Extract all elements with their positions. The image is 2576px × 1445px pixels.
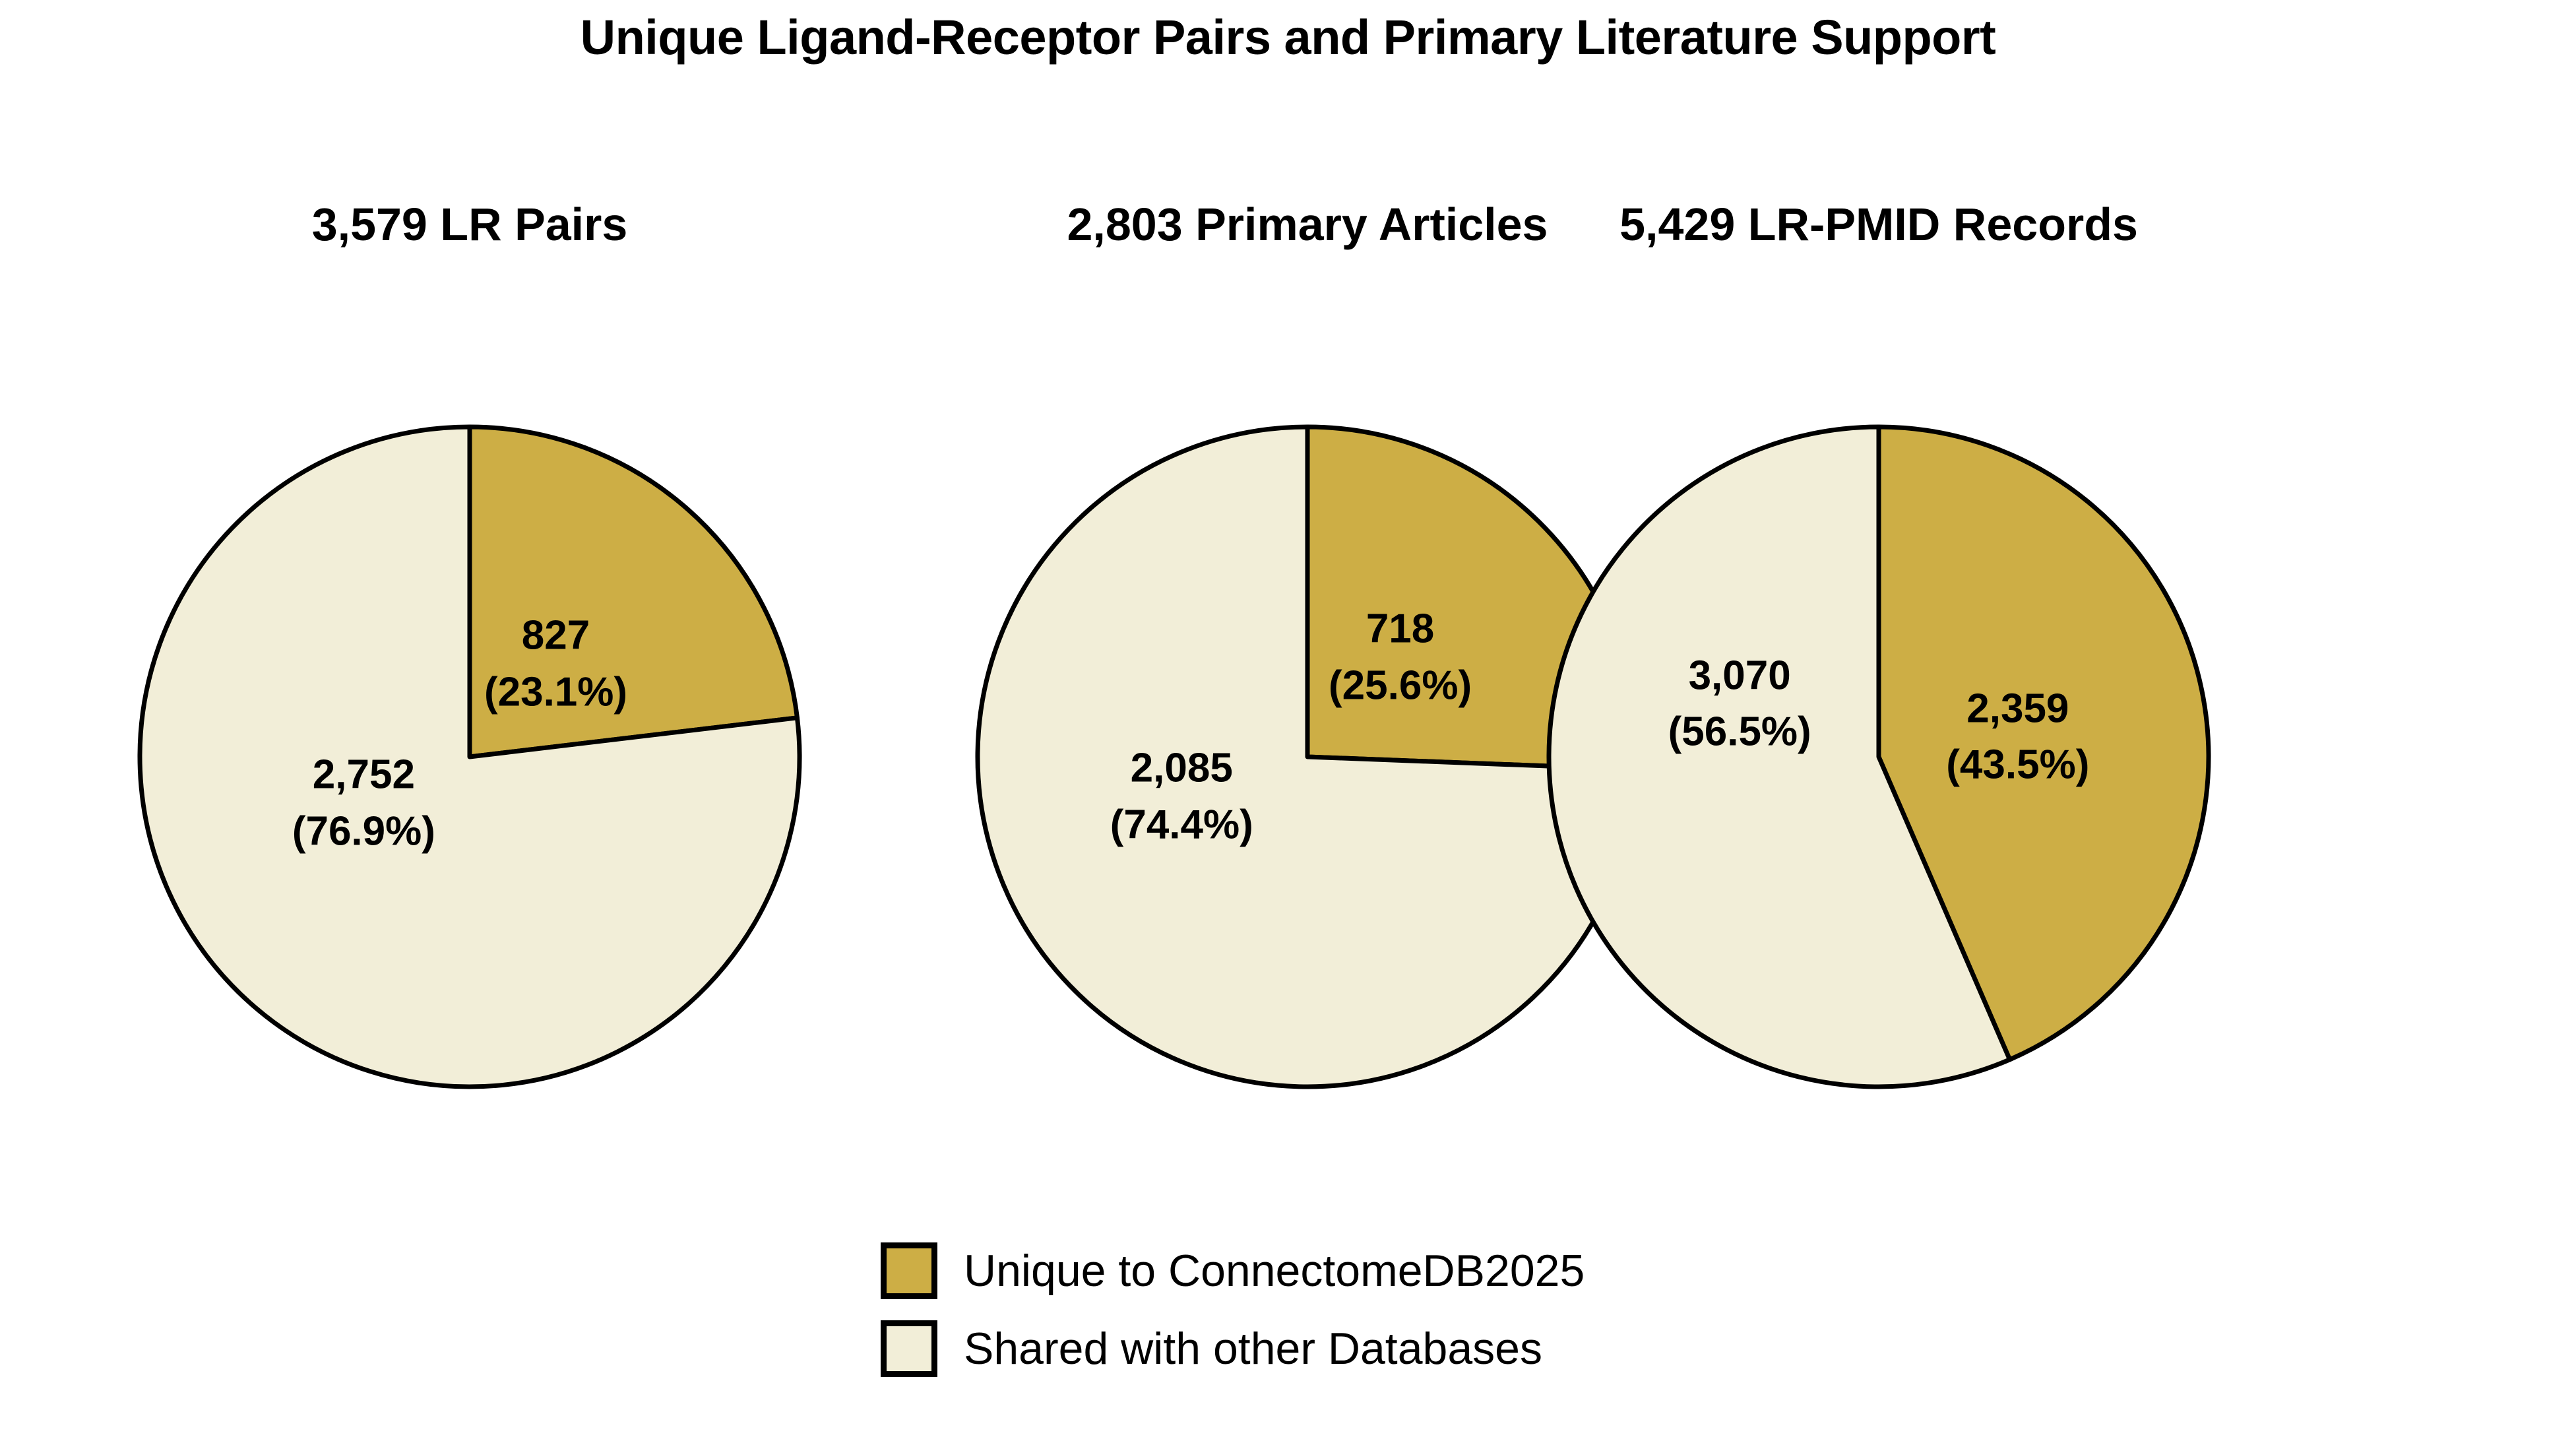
panel-title-lr-pmid-records: 5,429 LR-PMID Records xyxy=(1460,198,2298,251)
legend-item-shared[interactable]: Shared with other Databases xyxy=(881,1313,1585,1384)
pie-svg-lr-pairs xyxy=(139,426,801,1088)
pie-chart-lr-pairs: 827(23.1%)2,752(76.9%) xyxy=(139,426,801,1088)
legend-swatch-unique xyxy=(881,1242,937,1299)
legend-item-unique[interactable]: Unique to ConnectomeDB2025 xyxy=(881,1235,1585,1306)
legend-swatch-shared xyxy=(881,1320,937,1377)
pie-panel-lr-pmid-records: 5,429 LR-PMID Records 2,359(43.5%)3,070(… xyxy=(1460,0,2298,1188)
legend: Unique to ConnectomeDB2025Shared with ot… xyxy=(881,1235,1585,1384)
pie-panel-lr-pairs: 3,579 LR Pairs 827(23.1%)2,752(76.9%) xyxy=(51,0,889,1188)
pie-svg-lr-pmid-records xyxy=(1548,426,2210,1088)
legend-label-unique: Unique to ConnectomeDB2025 xyxy=(964,1245,1585,1297)
pie-slice-lr-pairs-unique[interactable] xyxy=(470,427,797,757)
figure-canvas: Unique Ligand-Receptor Pairs and Primary… xyxy=(0,0,2576,1445)
pie-chart-lr-pmid-records: 2,359(43.5%)3,070(56.5%) xyxy=(1548,426,2210,1088)
panel-title-lr-pairs: 3,579 LR Pairs xyxy=(51,198,889,251)
legend-label-shared: Shared with other Databases xyxy=(964,1323,1542,1374)
